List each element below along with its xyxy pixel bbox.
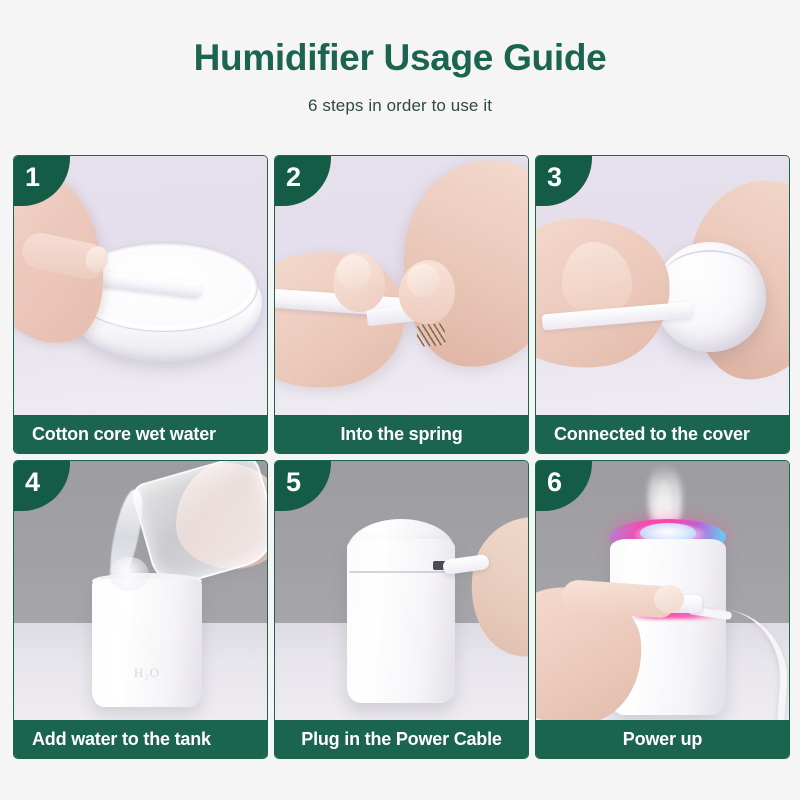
header: Humidifier Usage Guide 6 steps in order …: [0, 0, 800, 116]
step-card-3[interactable]: 3 Connected to the cover: [535, 155, 790, 454]
step-card-6[interactable]: 6 Power up: [535, 460, 790, 759]
metal-spring: [416, 323, 445, 347]
right-thumbnail: [407, 264, 440, 297]
water-splash: [109, 557, 149, 591]
tank-label: H₂O: [92, 665, 202, 681]
steps-grid: 1 Cotton core wet water 2 Into the: [13, 155, 790, 759]
page-title: Humidifier Usage Guide: [0, 38, 800, 79]
cover-lip: [662, 250, 758, 310]
step-card-2[interactable]: 2 Into the spring: [274, 155, 529, 454]
step-caption-6: Power up: [536, 720, 789, 758]
white-tank: [92, 579, 202, 707]
page-subtitle: 6 steps in order to use it: [0, 96, 800, 116]
step-caption-2: Into the spring: [275, 415, 528, 453]
step-card-1[interactable]: 1 Cotton core wet water: [13, 155, 268, 454]
body-seam: [349, 571, 453, 573]
step-caption-4: Add water to the tank: [14, 720, 267, 758]
fingertip: [654, 585, 684, 613]
step-caption-5: Plug in the Power Cable: [275, 720, 528, 758]
step-caption-1: Cotton core wet water: [14, 415, 267, 453]
step-card-4[interactable]: H₂O 4 Add water to the tank: [13, 460, 268, 759]
step-caption-3: Connected to the cover: [536, 415, 789, 453]
step-card-5[interactable]: 5 Plug in the Power Cable: [274, 460, 529, 759]
infographic-page: Humidifier Usage Guide 6 steps in order …: [0, 0, 800, 800]
left-thumbnail: [337, 255, 371, 289]
